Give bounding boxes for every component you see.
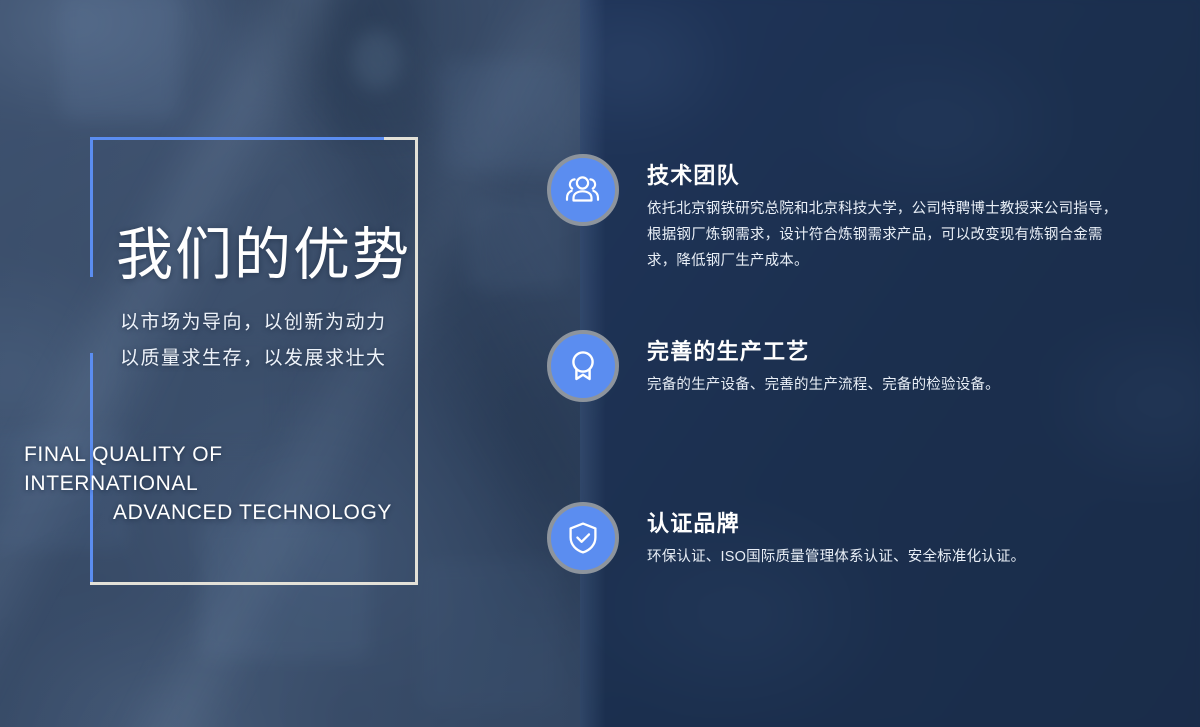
frame-top-blue-segment <box>90 137 386 140</box>
people-group-icon <box>547 154 619 226</box>
english-tagline: FINAL QUALITY OF INTERNATIONAL ADVANCED … <box>24 440 392 527</box>
frame-top-light-segment <box>384 137 418 140</box>
frame-bottom-segment <box>90 582 418 585</box>
feature-description: 完备的生产设备、完善的生产流程、完备的检验设备。 <box>647 372 1121 398</box>
feature-title: 技术团队 <box>647 158 740 190</box>
english-tagline-line-2: ADVANCED TECHNOLOGY <box>24 498 392 527</box>
frame-left-upper-segment <box>90 137 93 277</box>
feature-title: 认证品牌 <box>647 506 740 538</box>
page-title: 我们的优势 <box>116 226 411 286</box>
left-hero-panel: 我们的优势 以市场为导向，以创新为动力 以质量求生存，以发展求壮大 FINAL … <box>0 0 580 727</box>
feature-title: 完善的生产工艺 <box>647 334 809 366</box>
frame-right-segment <box>415 137 418 585</box>
feature-description: 依托北京钢铁研究总院和北京科技大学，公司特聘博士教授来公司指导，根据钢厂炼钢需求… <box>647 196 1121 274</box>
advantages-slide: 我们的优势 以市场为导向，以创新为动力 以质量求生存，以发展求壮大 FINAL … <box>0 0 1200 727</box>
slogan-line-1: 以市场为导向，以创新为动力 <box>120 305 387 341</box>
award-medal-icon <box>547 330 619 402</box>
slogan-line-2: 以质量求生存，以发展求壮大 <box>120 341 387 377</box>
english-tagline-line-1: FINAL QUALITY OF INTERNATIONAL <box>24 440 392 498</box>
slogan-block: 以市场为导向，以创新为动力 以质量求生存，以发展求壮大 <box>120 305 387 377</box>
feature-description: 环保认证、ISO国际质量管理体系认证、安全标准化认证。 <box>647 544 1121 570</box>
shield-check-icon <box>547 502 619 574</box>
